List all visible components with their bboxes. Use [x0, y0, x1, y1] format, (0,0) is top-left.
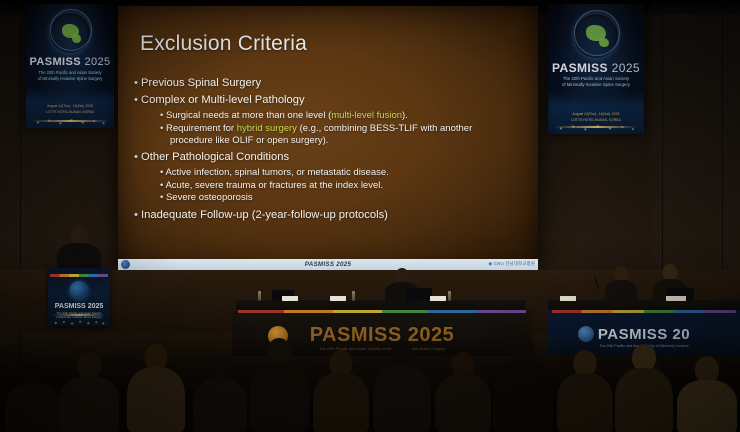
sub-bullet-item: • Surgical needs at more than one level … [160, 110, 538, 123]
audience-member [434, 352, 492, 432]
banner-right-subtitle-2: of Minimally Invasive Spine Surgery [548, 82, 644, 87]
podium-cityscape [48, 302, 110, 326]
banner-left-subtitle-1: The 20th Pacific and Asian Society [26, 70, 114, 75]
sub-bullet-item: • Requirement for hybrid surgery (e.g., … [160, 123, 538, 148]
banner-left-subtitle-2: of Minimally Invasive Spine Surgery [26, 76, 114, 81]
table-color-strip [238, 310, 526, 313]
banner-left-date: August 14(Thu) - 16(Sat), 2025 [26, 104, 114, 108]
bullet-item: • Other Pathological Conditions [134, 150, 538, 166]
bullet-item: • Previous Spinal Surgery [134, 76, 538, 92]
name-card [560, 296, 576, 301]
podium-speaker [52, 226, 106, 272]
water-bottle [258, 291, 261, 301]
podium-color-strip [50, 274, 107, 277]
moderator-laptop [406, 288, 432, 301]
water-bottle [448, 291, 451, 301]
globe-ring-icon [574, 10, 620, 56]
audience-member [492, 336, 554, 432]
sub-bullet-item: • Acute, severe trauma or fractures at t… [160, 180, 538, 193]
banner-right-subtitle-1: The 20th Pacific and Asian Society [548, 76, 644, 81]
slide-footer-text: PASMISS 2025 [305, 261, 351, 268]
projection-screen: Exclusion Criteria • Previous Spinal Sur… [118, 6, 538, 270]
audience-member [614, 344, 674, 432]
pasmiss-globe-logo-icon [121, 260, 130, 269]
audience-member [248, 338, 310, 432]
sub-bullet-continuation: procedure like OLIF or open surgery). [160, 135, 538, 148]
audience-member [676, 356, 738, 432]
banner-right-date: August 14(Thu) - 16(Sat), 2025 [548, 112, 644, 116]
audience-member [556, 350, 614, 432]
sub-bullet-group: • Active infection, spinal tumors, or me… [134, 167, 538, 205]
banner-right: PASMISS 2025 The 20th Pacific and Asian … [548, 4, 644, 134]
audience-member [192, 356, 248, 432]
sub-bullet-item: • Severe osteoporosis [160, 192, 538, 205]
wall-panel [652, 0, 740, 300]
bullet-item: • Complex or Multi-level Pathology [134, 93, 538, 109]
slide-bullet-list: • Previous Spinal Surgery • Complex or M… [118, 76, 538, 225]
audience-member [58, 352, 120, 432]
slide-title: Exclusion Criteria [140, 32, 307, 56]
name-card [666, 296, 686, 301]
table-color-strip [552, 310, 736, 313]
banner-right-title: PASMISS 2025 [548, 61, 644, 75]
audience-member [4, 362, 62, 432]
pasmiss-globe-logo-icon [70, 281, 89, 300]
panelist-left [602, 266, 640, 304]
bullet-item: • Inadequate Follow-up (2-year-follow-up… [134, 208, 538, 224]
audience-member [372, 342, 432, 432]
banner-left-title: PASMISS 2025 [26, 56, 114, 68]
audience-member [126, 344, 186, 432]
globe-ring-icon [50, 9, 92, 51]
panelist-left-torso [605, 280, 637, 306]
podium: PASMISS 2025 The 20th Pacific and Asian … [48, 268, 110, 326]
audience-member [312, 350, 370, 432]
conference-hall-scene: PASMISS 2025 The 20th Pacific and Asian … [0, 0, 740, 432]
name-card [282, 296, 298, 301]
name-card [430, 296, 446, 301]
water-bottle [352, 291, 355, 301]
slide-footer-bar: PASMISS 2025 ◉ CNU 전남대학교병원 [118, 259, 538, 270]
sponsor-logo-icon: ◉ CNU 전남대학교병원 [488, 261, 535, 267]
sub-bullet-group: • Surgical needs at more than one level … [134, 110, 538, 148]
name-card [330, 296, 346, 301]
banner-left: PASMISS 2025 The 20th Pacific and Asian … [26, 4, 114, 128]
sub-bullet-item: • Active infection, spinal tumors, or me… [160, 167, 538, 180]
banner-right-venue: LOTTE HOTEL BUSAN, KOREA [548, 118, 644, 122]
banner-left-venue: LOTTE HOTEL BUSAN, KOREA [26, 110, 114, 114]
